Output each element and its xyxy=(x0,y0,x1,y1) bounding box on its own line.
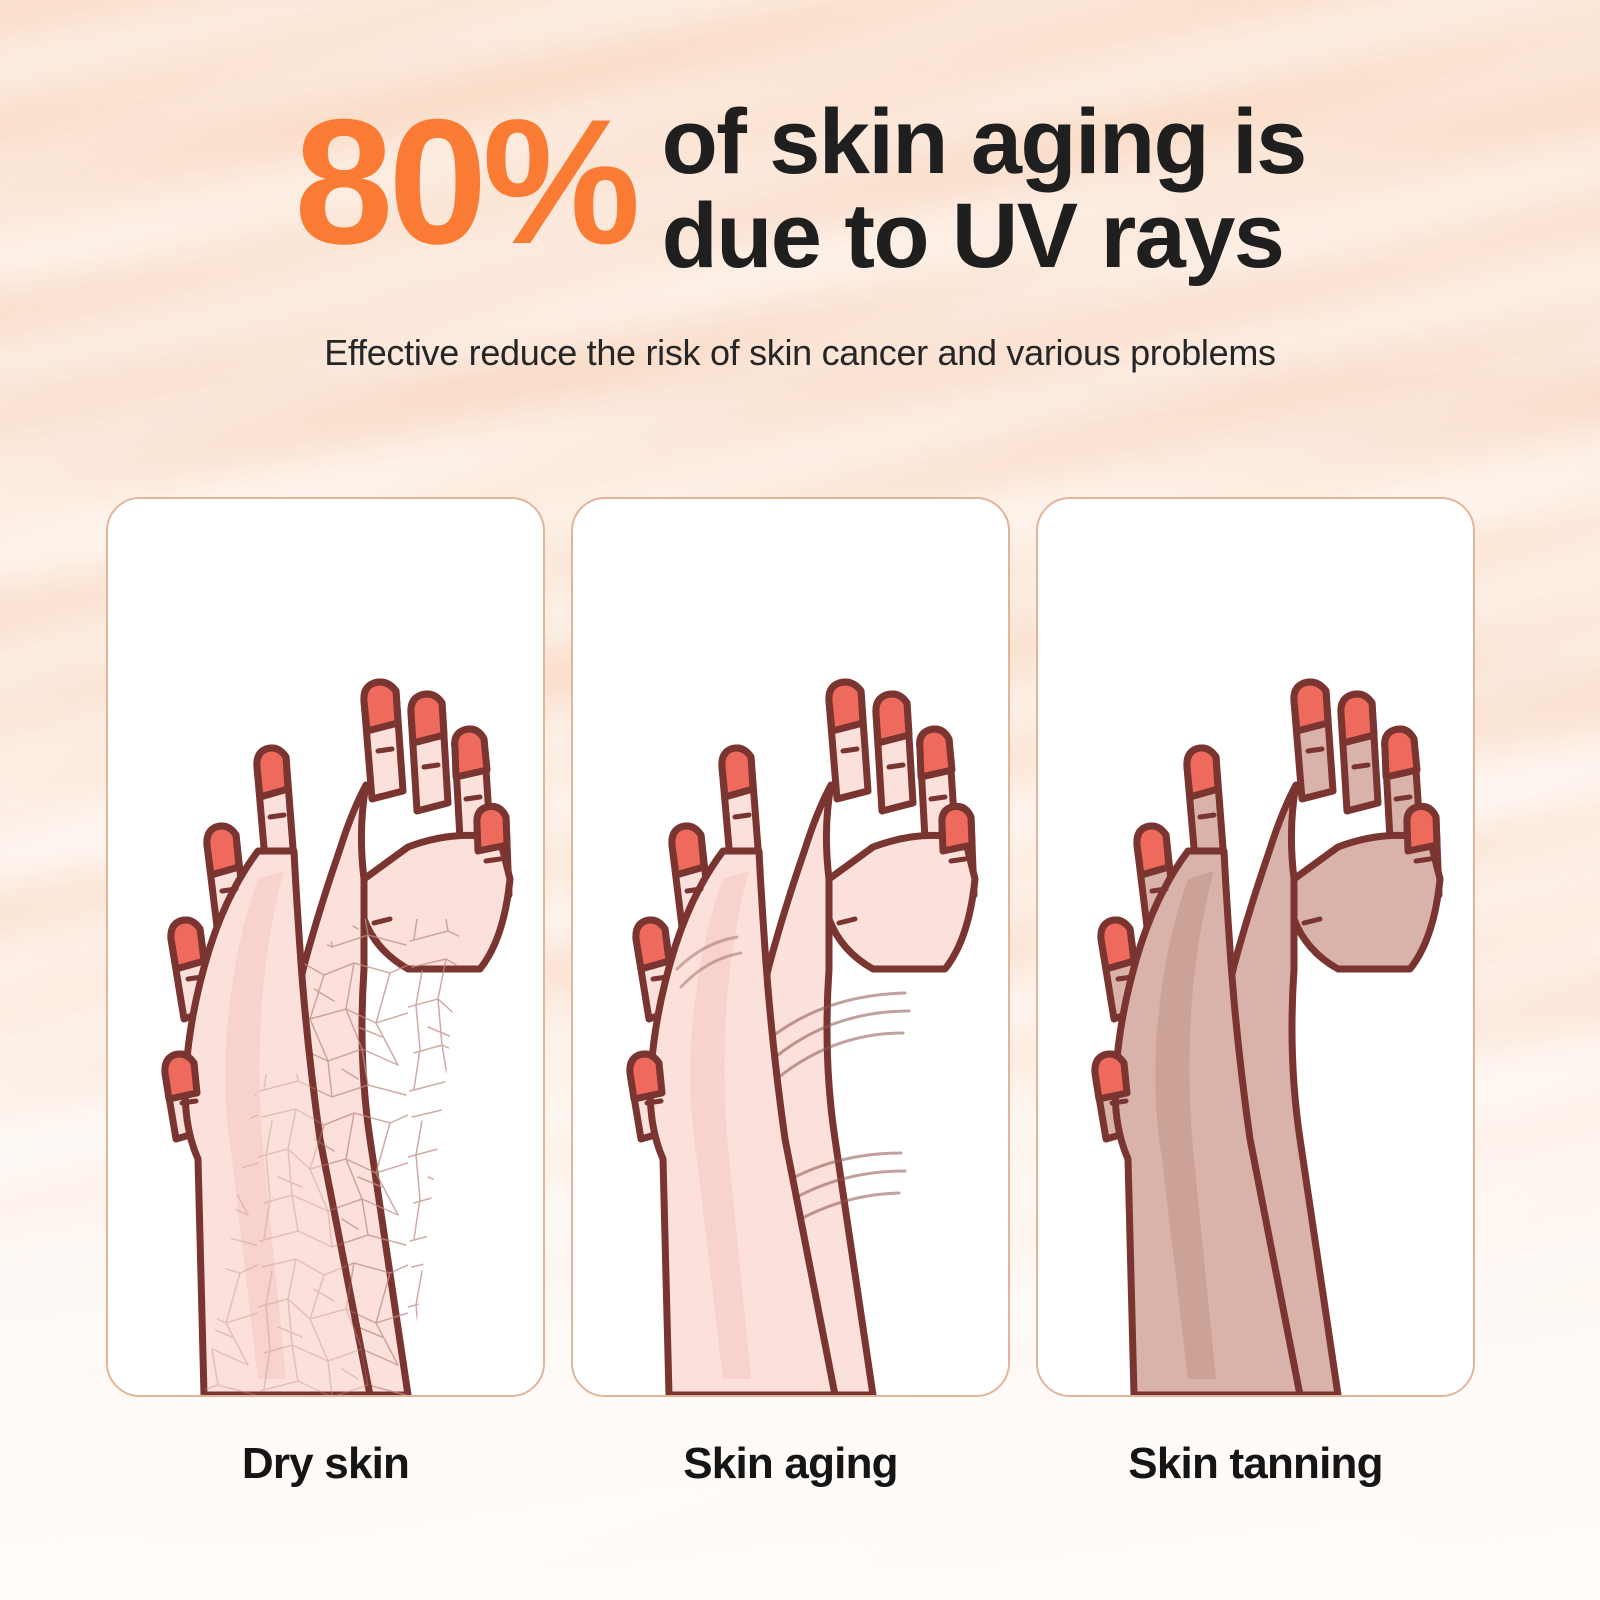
headline-line-2: due to UV rays xyxy=(662,190,1306,284)
headline-text: of skin aging is due to UV rays xyxy=(662,96,1306,284)
card-skin-aging: Skin aging xyxy=(573,497,1008,1489)
card-dry-skin: Dry skin xyxy=(108,497,543,1489)
hands-illustration-skin-tanning xyxy=(1038,499,1473,1395)
card-illustration-dry-skin xyxy=(106,497,545,1397)
cards-row: Dry skin xyxy=(108,497,1492,1489)
headline-line-1: of skin aging is xyxy=(662,96,1306,190)
hands-illustration-skin-aging xyxy=(573,499,1008,1395)
infographic-poster: 80% of skin aging is due to UV rays Effe… xyxy=(0,0,1600,1600)
stat-percentage: 80% xyxy=(294,100,635,264)
card-illustration-skin-aging xyxy=(571,497,1010,1397)
header: 80% of skin aging is due to UV rays Effe… xyxy=(0,96,1600,374)
hands-illustration-dry-skin xyxy=(108,499,543,1395)
headline: 80% of skin aging is due to UV rays xyxy=(0,96,1600,284)
card-label-dry-skin: Dry skin xyxy=(242,1439,409,1489)
card-illustration-skin-tanning xyxy=(1036,497,1475,1397)
subtitle: Effective reduce the risk of skin cancer… xyxy=(0,332,1600,374)
card-skin-tanning: Skin tanning xyxy=(1038,497,1473,1489)
card-label-skin-tanning: Skin tanning xyxy=(1128,1439,1382,1489)
card-label-skin-aging: Skin aging xyxy=(683,1439,897,1489)
